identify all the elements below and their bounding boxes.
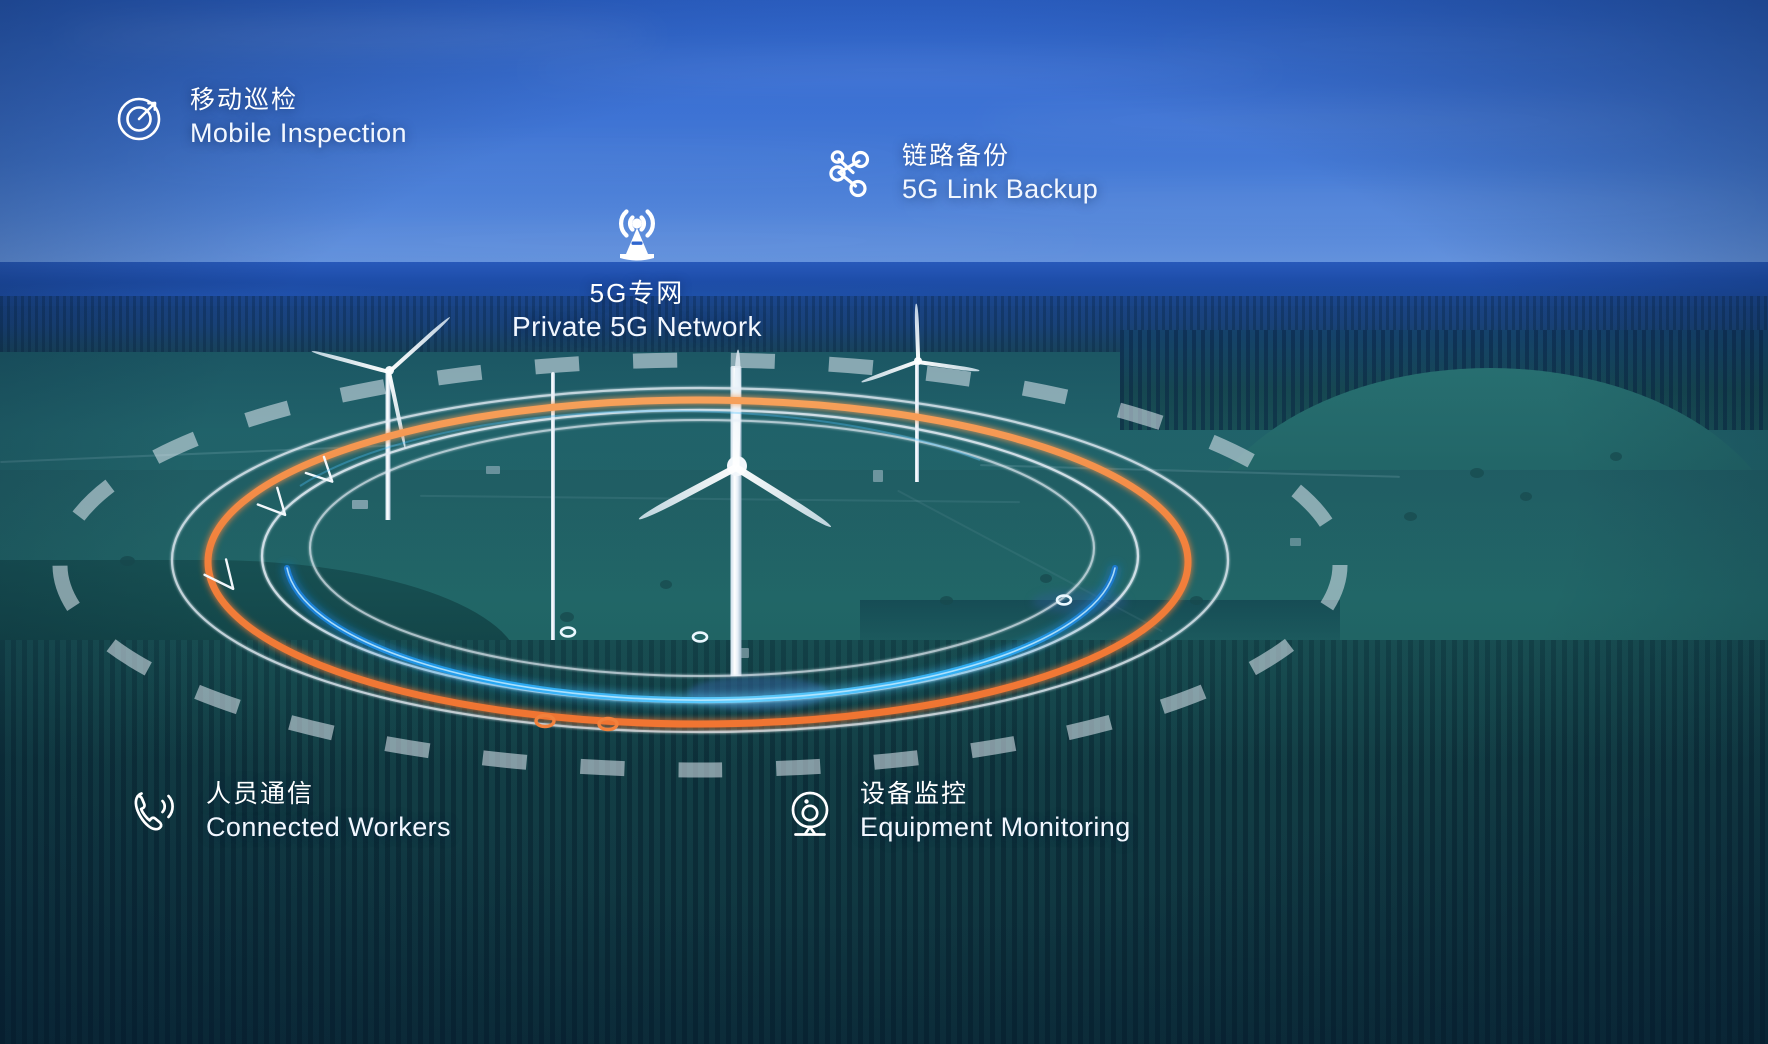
target-icon (112, 90, 168, 146)
label-en: Connected Workers (206, 812, 451, 843)
infographic-stage: 移动巡检 Mobile Inspection (0, 0, 1768, 1044)
turbine-left (328, 360, 448, 520)
label-cn: 设备监控 (860, 780, 1131, 809)
label-link-backup[interactable]: 链路备份 5G Link Backup (824, 142, 1098, 205)
label-en: 5G Link Backup (902, 174, 1098, 205)
label-mobile-inspection[interactable]: 移动巡检 Mobile Inspection (112, 86, 407, 149)
cell-tower-icon (601, 196, 673, 268)
share-nodes-icon (824, 146, 880, 202)
label-private-5g[interactable]: 5G专网 Private 5G Network (512, 196, 762, 344)
label-cn: 人员通信 (206, 780, 451, 809)
label-cn: 链路备份 (902, 142, 1098, 171)
label-cn: 5G专网 (590, 278, 685, 308)
label-en: Private 5G Network (512, 311, 762, 343)
turbine-center (636, 352, 836, 672)
webcam-icon (782, 784, 838, 840)
turbine-right (862, 352, 972, 482)
phone-call-icon (128, 784, 184, 840)
label-cn: 移动巡检 (190, 86, 407, 115)
label-equipment-monitoring[interactable]: 设备监控 Equipment Monitoring (782, 780, 1131, 843)
label-connected-workers[interactable]: 人员通信 Connected Workers (128, 780, 451, 843)
turbine-pole (548, 372, 558, 640)
label-en: Equipment Monitoring (860, 812, 1131, 843)
label-en: Mobile Inspection (190, 118, 407, 149)
